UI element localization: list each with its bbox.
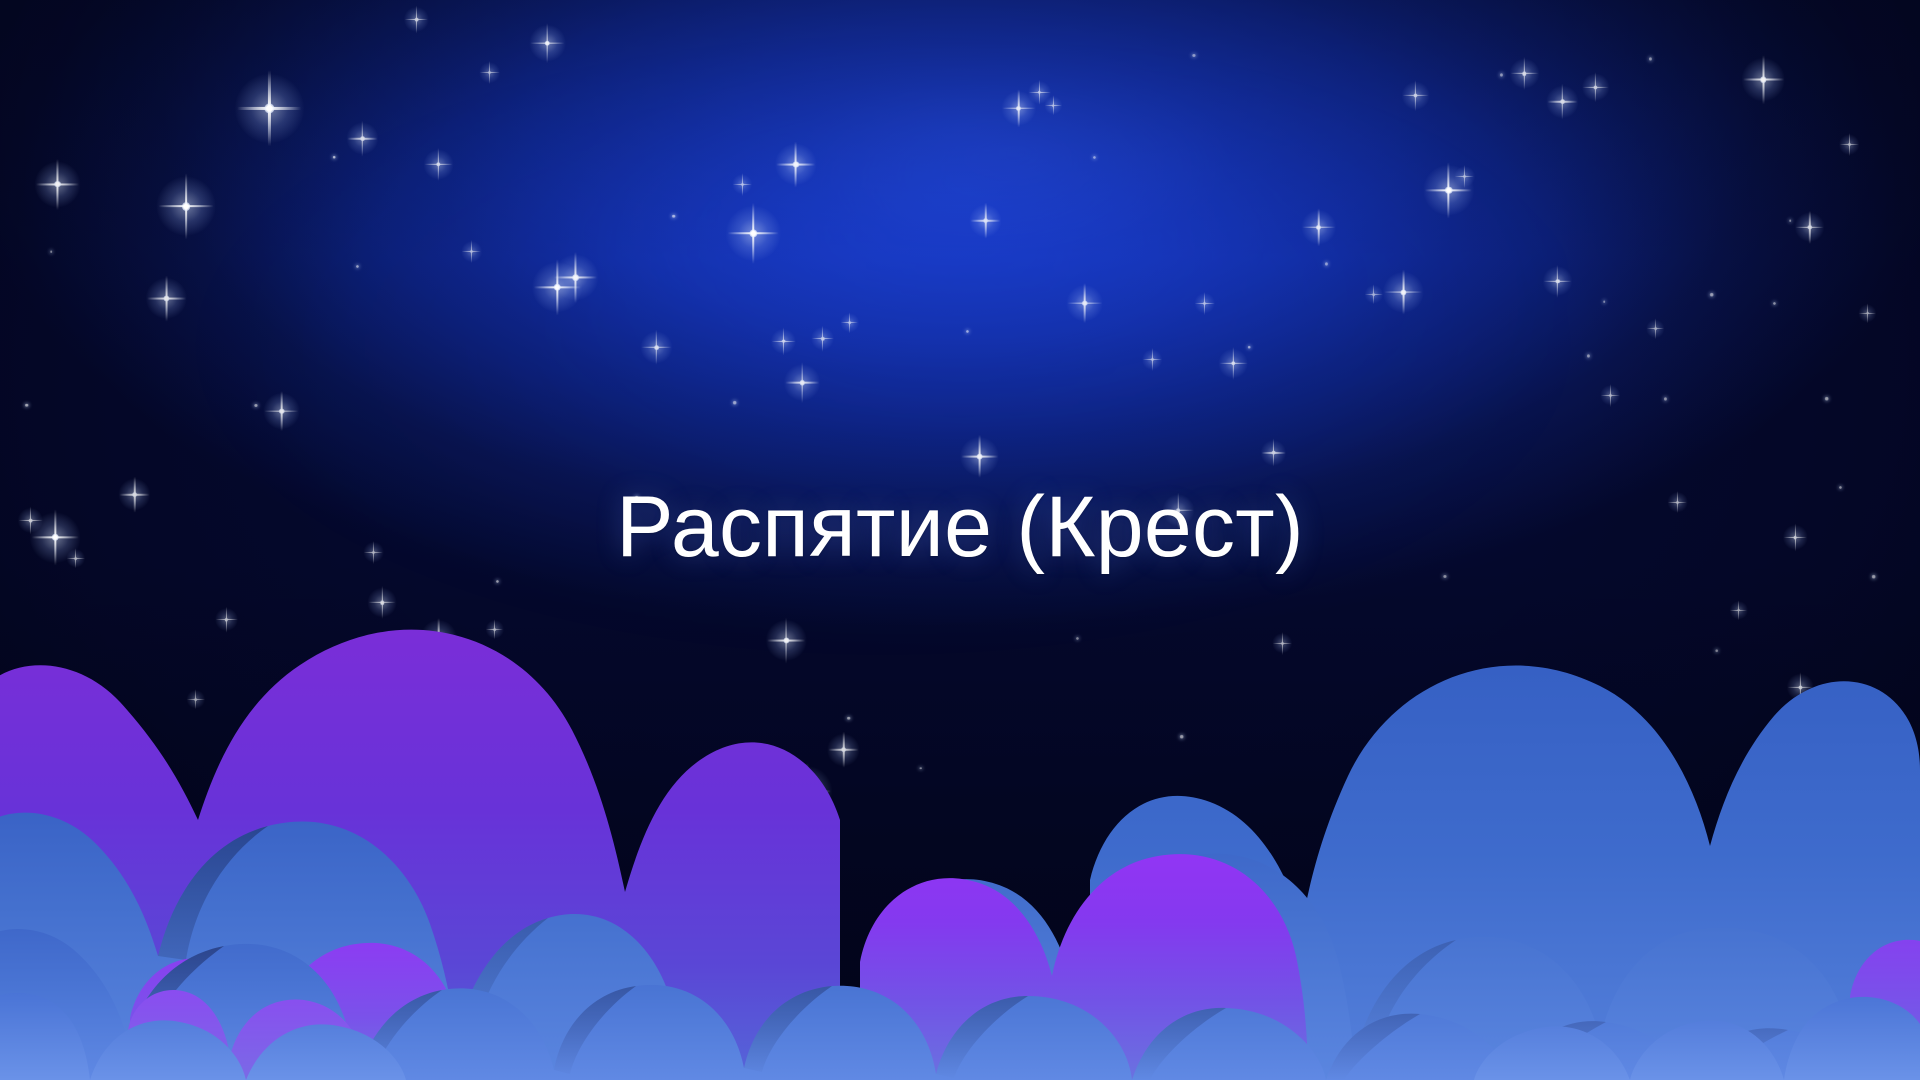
star-halo [1402, 82, 1430, 110]
star-spike-horizontal [1583, 86, 1609, 87]
star-halo [1741, 58, 1785, 102]
star-core [1463, 175, 1466, 178]
star-core [545, 40, 550, 45]
star-core [1016, 105, 1021, 110]
star-spike-horizontal [1303, 226, 1335, 228]
star-spike-horizontal [1143, 359, 1162, 360]
four-point-star-icon [1204, 303, 1205, 304]
star-spike-vertical [1273, 439, 1274, 467]
star-halo [1582, 73, 1610, 101]
star-spike-vertical [1809, 210, 1810, 243]
star-halo [771, 329, 796, 354]
star-halo [811, 327, 834, 350]
star-spike-vertical [741, 173, 742, 196]
star-spike-vertical [1402, 269, 1404, 315]
star-spike-horizontal [1219, 363, 1247, 364]
star-spike-horizontal [785, 382, 819, 384]
star-spike-vertical [795, 142, 797, 188]
star-core [1649, 57, 1652, 60]
star-core [470, 250, 473, 253]
star-spike-horizontal [1262, 452, 1286, 453]
star-core [1082, 300, 1087, 305]
star-core [1654, 328, 1657, 331]
four-point-star-icon [1604, 301, 1605, 302]
star-spike-vertical [1053, 95, 1054, 115]
star-spike-horizontal [777, 164, 816, 166]
star-core [848, 321, 851, 324]
star-core [966, 330, 969, 333]
four-point-star-icon [822, 338, 823, 339]
star-core [332, 155, 336, 159]
star-core [436, 162, 440, 166]
four-point-star-icon [802, 382, 803, 383]
star-halo [532, 262, 583, 313]
star-core [254, 403, 257, 406]
four-point-star-icon [1018, 108, 1019, 109]
star-core [1555, 279, 1559, 283]
star-core [132, 492, 137, 497]
four-point-star-icon [26, 405, 27, 406]
star-spike-vertical [752, 203, 755, 264]
four-point-star-icon [1249, 347, 1250, 348]
star-spike-vertical [166, 275, 168, 321]
star-spike-horizontal [554, 276, 597, 278]
star-core [163, 295, 169, 301]
star-spike-vertical [1655, 319, 1656, 339]
star-spike-vertical [1084, 283, 1086, 324]
four-point-star-icon [1849, 144, 1850, 145]
star-spike-vertical [1677, 491, 1678, 514]
star-spike-vertical [1447, 162, 1449, 218]
star-halo [235, 74, 304, 143]
star-halo [119, 479, 151, 511]
star-spike-vertical [801, 362, 803, 403]
four-point-star-icon [1774, 303, 1775, 304]
star-spike-horizontal [120, 494, 150, 495]
star-halo [1028, 81, 1051, 104]
star-spike-vertical [438, 148, 439, 181]
star-halo [1044, 96, 1062, 114]
star-halo [1302, 210, 1337, 245]
star-spike-vertical [783, 327, 784, 355]
star-core [977, 454, 983, 460]
star-spike-vertical [268, 70, 271, 147]
star-spike-horizontal [147, 297, 186, 299]
four-point-star-icon [1084, 303, 1085, 304]
star-core [1676, 500, 1679, 503]
four-point-star-icon [1373, 294, 1374, 295]
star-halo [970, 205, 1002, 237]
star-halo [960, 437, 999, 476]
star-core [488, 71, 491, 74]
star-core [1560, 100, 1565, 105]
star-core [360, 136, 365, 141]
star-spike-horizontal [424, 164, 452, 165]
star-core [1500, 73, 1503, 76]
four-point-star-icon [1562, 101, 1563, 102]
star-core [54, 181, 61, 188]
star-spike-vertical [1318, 208, 1320, 246]
star-spike-horizontal [1068, 302, 1102, 304]
star-core [1808, 225, 1812, 229]
star-spike-horizontal [1195, 303, 1214, 304]
star-halo [461, 241, 482, 262]
star-spike-horizontal [727, 232, 779, 235]
star-core [749, 229, 757, 237]
star-core [1272, 451, 1276, 455]
four-point-star-icon [1840, 487, 1841, 488]
four-point-star-icon [753, 233, 754, 234]
cloud-layer-base [0, 960, 1920, 1080]
star-halo [1667, 492, 1688, 513]
star-core [1192, 54, 1195, 57]
star-spike-vertical [1524, 57, 1525, 90]
four-point-star-icon [1655, 328, 1656, 329]
star-halo [1795, 212, 1825, 242]
star-spike-vertical [489, 61, 490, 84]
star-halo [1423, 165, 1474, 216]
star-spike-vertical [362, 121, 363, 157]
star-spike-vertical [57, 159, 59, 210]
four-point-star-icon [1557, 281, 1558, 282]
star-core [1825, 397, 1829, 401]
four-point-star-icon [795, 164, 796, 165]
star-halo [775, 144, 816, 185]
four-point-star-icon [1524, 73, 1525, 74]
star-spike-horizontal [480, 72, 499, 73]
star-spike-vertical [134, 477, 135, 513]
star-spike-horizontal [1425, 189, 1472, 191]
four-point-star-icon [1178, 510, 1179, 511]
star-spike-vertical [656, 329, 657, 365]
star-halo [1365, 285, 1383, 303]
star-spike-horizontal [1163, 510, 1193, 511]
four-point-star-icon [334, 157, 335, 158]
star-halo [1066, 285, 1103, 322]
four-point-star-icon [1677, 502, 1678, 503]
star-core [182, 202, 191, 211]
four-point-star-icon [1152, 359, 1153, 360]
four-point-star-icon [1094, 157, 1095, 158]
star-spike-horizontal [1547, 101, 1577, 102]
star-spike-horizontal [347, 138, 377, 139]
star-core [983, 219, 988, 224]
star-core [654, 345, 659, 350]
four-point-star-icon [51, 251, 52, 252]
star-spike-vertical [546, 23, 548, 64]
star-halo [1383, 271, 1424, 312]
star-halo [423, 150, 453, 180]
star-core [1151, 358, 1154, 361]
star-spike-horizontal [462, 251, 481, 252]
four-point-star-icon [1273, 452, 1274, 453]
four-point-star-icon [1867, 313, 1868, 314]
star-halo [529, 25, 566, 62]
star-spike-vertical [416, 6, 417, 34]
star-spike-vertical [985, 203, 986, 239]
star-spike-horizontal [1601, 395, 1620, 396]
star-spike-horizontal [1647, 328, 1664, 329]
four-point-star-icon [1039, 92, 1040, 93]
four-point-star-icon [1826, 398, 1827, 399]
four-point-star-icon [783, 341, 784, 342]
star-spike-vertical [979, 435, 981, 478]
four-point-star-icon [166, 298, 167, 299]
star-spike-horizontal [36, 183, 79, 185]
star-spike-horizontal [1365, 294, 1382, 295]
star-spike-vertical [1373, 284, 1374, 304]
star-core [1247, 345, 1251, 349]
star-spike-vertical [1464, 165, 1465, 188]
star-core [1587, 354, 1590, 357]
star-spike-vertical [574, 252, 576, 303]
star-spike-vertical [1018, 89, 1020, 127]
star-spike-vertical [1204, 292, 1205, 315]
star-core [1609, 394, 1612, 397]
star-core [1664, 397, 1667, 400]
star-core [1176, 508, 1181, 513]
star-halo [146, 277, 187, 318]
star-core [1839, 486, 1842, 489]
star-halo [640, 331, 672, 363]
four-point-star-icon [742, 184, 743, 185]
star-halo [156, 176, 216, 236]
star-spike-horizontal [1511, 73, 1539, 74]
star-spike-horizontal [1544, 280, 1572, 281]
four-point-star-icon [673, 216, 674, 217]
star-core [1847, 143, 1850, 146]
four-point-star-icon [416, 19, 417, 20]
star-spike-horizontal [1455, 176, 1474, 177]
star-spike-horizontal [1796, 226, 1824, 227]
four-point-star-icon [1665, 398, 1666, 399]
star-spike-horizontal [530, 42, 564, 44]
star-spike-vertical [1762, 56, 1764, 104]
star-spike-vertical [1562, 84, 1563, 120]
star-halo [1002, 91, 1037, 126]
star-halo [1546, 86, 1578, 118]
cloud-scenery [0, 520, 1920, 1080]
star-core [1603, 301, 1606, 304]
star-halo [1543, 266, 1573, 296]
star-core [799, 380, 804, 385]
star-core [264, 103, 274, 113]
four-point-star-icon [967, 331, 968, 332]
four-point-star-icon [849, 322, 850, 323]
four-point-star-icon [362, 138, 363, 139]
star-spike-horizontal [971, 220, 1001, 221]
four-point-star-icon [575, 277, 576, 278]
star-core [1325, 262, 1328, 265]
star-spike-horizontal [1003, 107, 1035, 109]
star-halo [35, 161, 81, 207]
star-spike-vertical [1415, 80, 1416, 111]
star-core [1866, 312, 1869, 315]
star-core [1400, 289, 1406, 295]
star-spike-vertical [281, 391, 283, 432]
star-spike-horizontal [732, 184, 751, 185]
star-core [356, 265, 359, 268]
star-core [1522, 71, 1526, 75]
star-spike-horizontal [1668, 501, 1687, 502]
star-spike-vertical [1848, 133, 1849, 156]
star-halo [553, 254, 599, 300]
star-halo [479, 62, 500, 83]
star-spike-horizontal [641, 347, 671, 348]
star-halo [726, 206, 781, 261]
four-point-star-icon [281, 411, 282, 412]
four-point-star-icon [134, 494, 135, 495]
four-point-star-icon [1595, 87, 1596, 88]
star-core [1231, 361, 1235, 365]
star-halo [1195, 293, 1216, 314]
star-spike-horizontal [812, 338, 834, 339]
star-spike-vertical [1557, 264, 1558, 297]
four-point-star-icon [1415, 95, 1416, 96]
star-halo [1510, 59, 1540, 89]
star-spike-horizontal [264, 410, 298, 412]
star-spike-vertical [849, 313, 850, 333]
four-point-star-icon [186, 206, 187, 207]
star-core [672, 214, 676, 218]
star-halo [841, 314, 859, 332]
four-point-star-icon [471, 251, 472, 252]
star-spike-vertical [556, 259, 558, 315]
four-point-star-icon [1403, 292, 1404, 293]
star-core [414, 18, 418, 22]
four-point-star-icon [1193, 55, 1194, 56]
star-spike-horizontal [1859, 312, 1876, 313]
star-spike-vertical [1610, 384, 1611, 407]
star-spike-vertical [1152, 348, 1153, 371]
star-spike-horizontal [1403, 95, 1429, 96]
four-point-star-icon [1448, 190, 1449, 191]
star-core [740, 183, 743, 186]
four-point-star-icon [269, 108, 270, 109]
star-spike-horizontal [1029, 91, 1051, 92]
star-halo [1261, 440, 1286, 465]
star-core [553, 283, 560, 290]
star-spike-vertical [1867, 303, 1868, 323]
star-spike-vertical [1039, 79, 1040, 105]
four-point-star-icon [656, 347, 657, 348]
star-core [733, 401, 737, 405]
star-halo [784, 364, 821, 401]
four-point-star-icon [1650, 58, 1651, 59]
star-spike-horizontal [533, 286, 580, 288]
four-point-star-icon [489, 72, 490, 73]
star-core [1093, 156, 1096, 159]
four-point-star-icon [1326, 263, 1327, 264]
four-point-star-icon [979, 456, 980, 457]
star-core [821, 337, 824, 340]
star-spike-horizontal [1743, 79, 1784, 81]
four-point-star-icon [1233, 363, 1234, 364]
star-spike-horizontal [841, 322, 858, 323]
star-spike-vertical [1595, 72, 1596, 103]
four-point-star-icon [1464, 176, 1465, 177]
four-point-star-icon [1053, 105, 1054, 106]
star-core [279, 408, 284, 413]
four-point-star-icon [1790, 220, 1791, 221]
four-point-star-icon [985, 220, 986, 221]
star-core [25, 403, 29, 407]
four-point-star-icon [1318, 227, 1319, 228]
star-spike-horizontal [1384, 291, 1423, 293]
star-spike-horizontal [237, 106, 302, 109]
four-point-star-icon [557, 287, 558, 288]
star-spike-vertical [822, 326, 823, 352]
star-halo [1646, 320, 1664, 338]
star-halo [732, 174, 753, 195]
star-spike-vertical [471, 240, 472, 263]
star-core [572, 274, 579, 281]
star-spike-horizontal [158, 205, 214, 208]
four-point-star-icon [1711, 294, 1712, 295]
star-spike-horizontal [1839, 144, 1858, 145]
star-halo [1600, 385, 1621, 406]
star-core [1316, 224, 1321, 229]
star-core [1413, 94, 1417, 98]
four-point-star-icon [357, 266, 358, 267]
star-spike-horizontal [961, 456, 998, 458]
star-core [1373, 293, 1376, 296]
star-core [782, 339, 786, 343]
star-core [50, 250, 53, 253]
four-point-star-icon [636, 497, 637, 498]
star-halo [1839, 134, 1860, 155]
star-halo [346, 123, 378, 155]
four-point-star-icon [734, 402, 735, 403]
four-point-star-icon [1501, 74, 1502, 75]
star-spike-horizontal [772, 341, 796, 342]
star-halo [1142, 349, 1163, 370]
four-point-star-icon [1763, 79, 1764, 80]
four-point-star-icon [1588, 355, 1589, 356]
star-core [1052, 104, 1055, 107]
star-core [793, 161, 799, 167]
star-core [635, 495, 639, 499]
star-halo [1218, 348, 1248, 378]
star-core [1593, 85, 1597, 89]
star-core [1760, 77, 1766, 83]
star-core [1203, 302, 1206, 305]
star-core [1789, 220, 1792, 223]
four-point-star-icon [547, 43, 548, 44]
four-point-star-icon [1809, 227, 1810, 228]
star-spike-horizontal [404, 19, 428, 20]
star-halo [404, 7, 429, 32]
star-core [1038, 90, 1041, 93]
star-core [1445, 186, 1452, 193]
star-spike-vertical [185, 173, 188, 239]
presentation-slide: Распятие (Крест) [0, 0, 1920, 1080]
star-core [1710, 293, 1714, 297]
star-halo [1454, 166, 1475, 187]
star-spike-horizontal [1045, 105, 1062, 106]
star-halo [1858, 304, 1876, 322]
four-point-star-icon [438, 164, 439, 165]
four-point-star-icon [57, 184, 58, 185]
star-halo [263, 393, 300, 430]
four-point-star-icon [1610, 395, 1611, 396]
star-spike-vertical [1232, 347, 1233, 380]
star-core [1773, 302, 1776, 305]
four-point-star-icon [255, 405, 256, 406]
